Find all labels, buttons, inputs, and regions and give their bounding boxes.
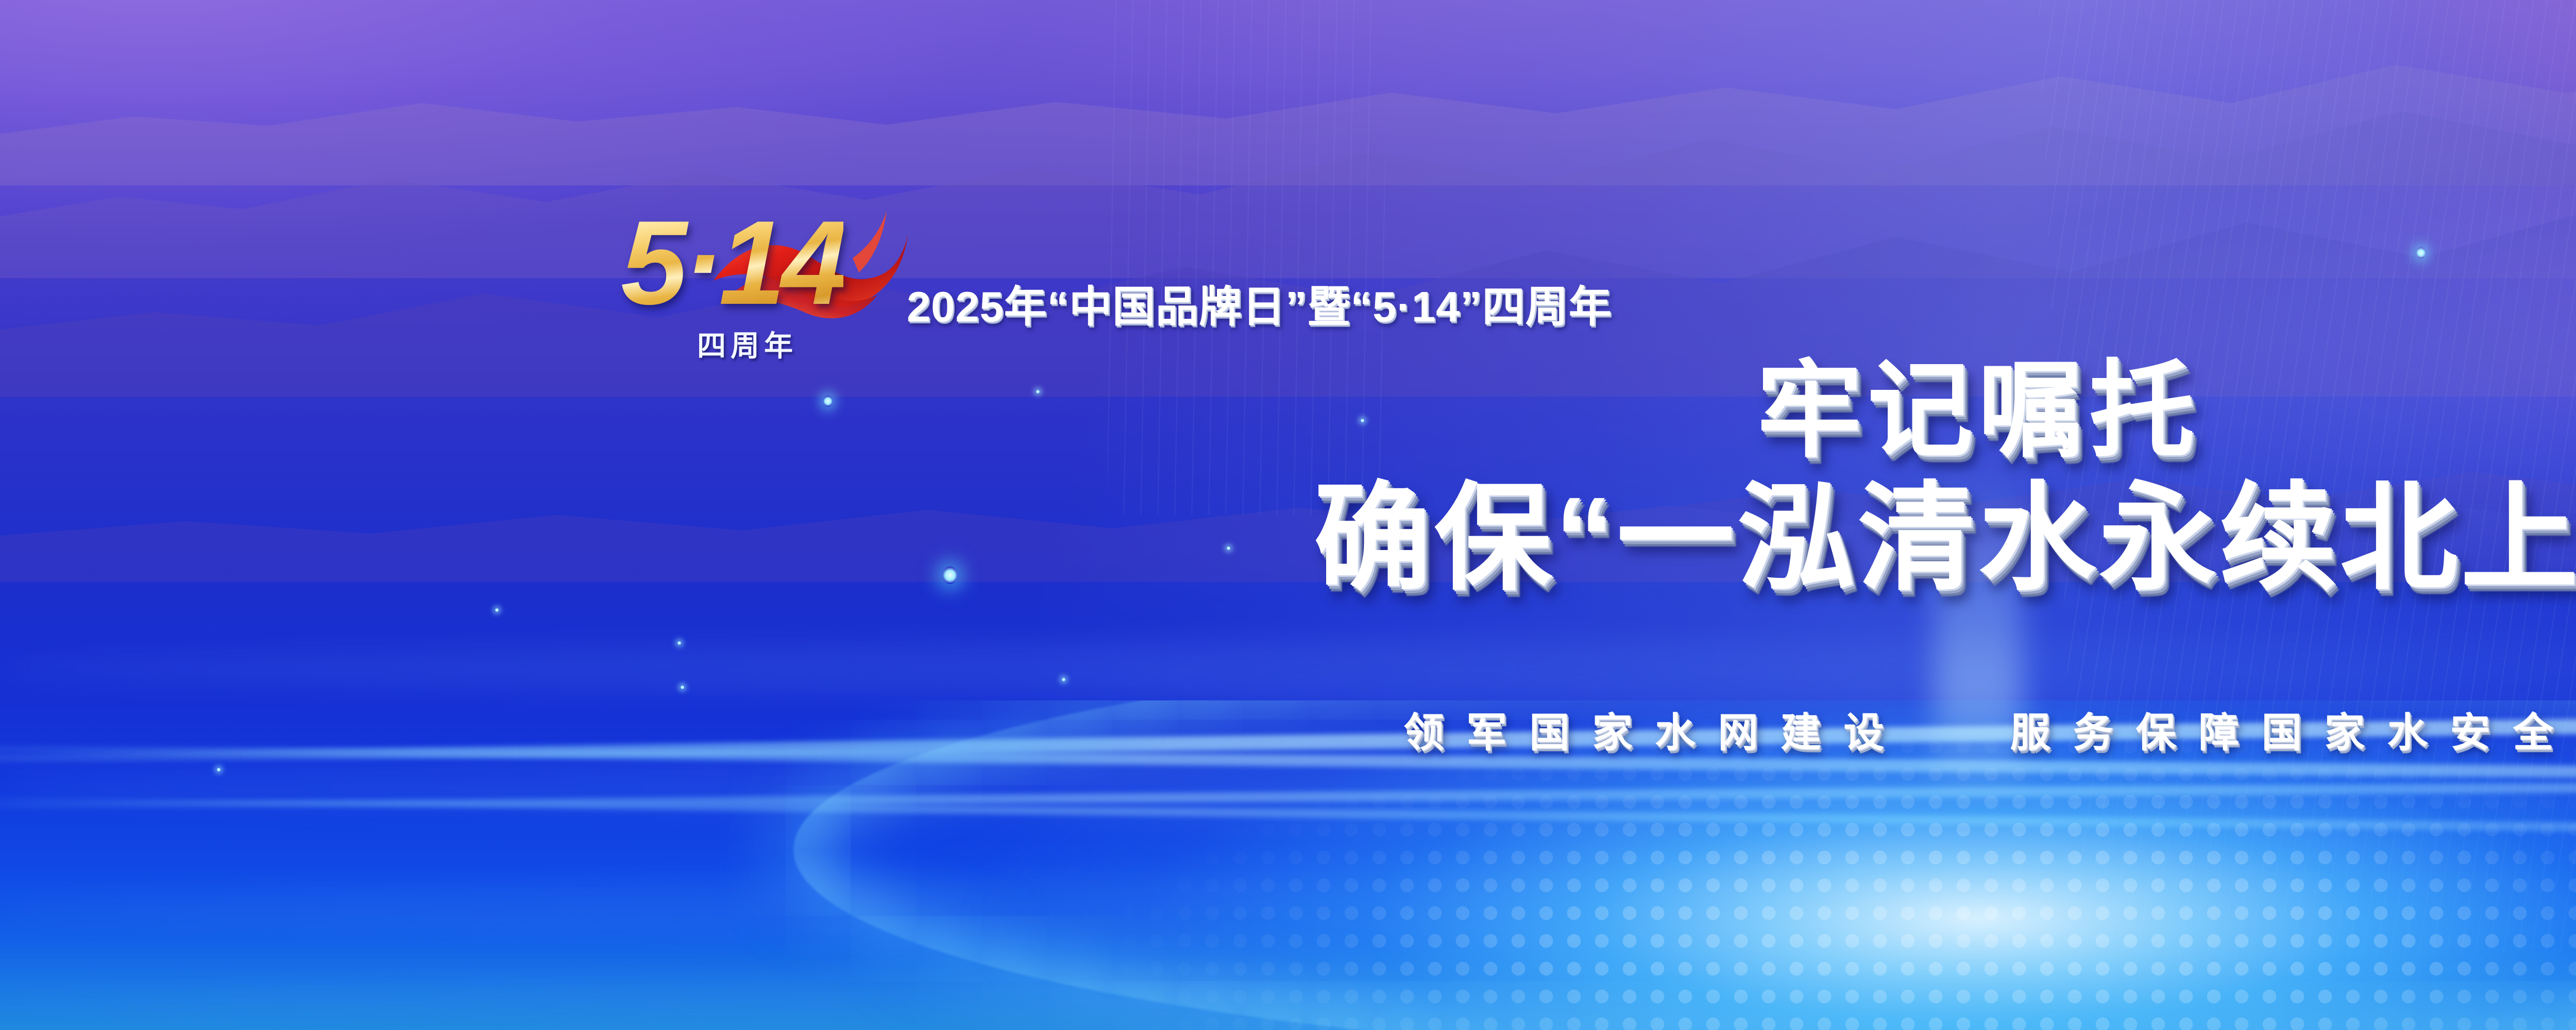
anniversary-number: 5·14	[621, 203, 843, 323]
banner-content: 5·14 四周年 2025年“中国品牌日”暨“5·14”四周年 中国南水北调 C…	[0, 0, 2576, 1030]
banner-root: 5·14 四周年 2025年“中国品牌日”暨“5·14”四周年 中国南水北调 C…	[0, 0, 2576, 1030]
sub-slogan: 领军国家水网建设 服务保障国家水安全	[0, 700, 2576, 758]
headline-line-1: 牢记嘱托	[0, 355, 2576, 466]
event-title: 2025年“中国品牌日”暨“5·14”四周年	[907, 272, 1612, 334]
main-headline: 牢记嘱托 确保“一泓清水永续北上”	[0, 355, 2576, 600]
headline-line-2: 确保“一泓清水永续北上”	[0, 477, 2576, 600]
sub-slogan-part-2: 服务保障国家水安全	[2010, 710, 2576, 755]
sub-slogan-part-1: 领军国家水网建设	[1403, 710, 1906, 755]
anniversary-logo: 5·14 四周年	[621, 203, 909, 358]
